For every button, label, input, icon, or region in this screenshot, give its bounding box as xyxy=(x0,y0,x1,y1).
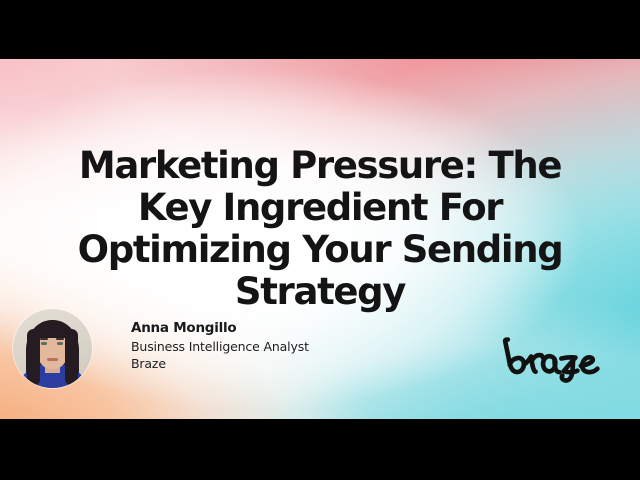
avatar-eye-left xyxy=(41,342,47,345)
video-frame-viewport: Marketing Pressure: The Key Ingredient F… xyxy=(0,0,640,480)
speaker-role: Business Intelligence Analyst xyxy=(131,338,309,355)
speaker-name: Anna Mongillo xyxy=(131,320,309,338)
presentation-slide: Marketing Pressure: The Key Ingredient F… xyxy=(0,59,640,419)
avatar-mouth xyxy=(47,358,58,361)
braze-wordmark-svg xyxy=(500,333,612,385)
slide-title: Marketing Pressure: The Key Ingredient F… xyxy=(0,145,640,313)
avatar-eye-right xyxy=(57,342,63,345)
avatar-hair-fringe xyxy=(34,324,71,338)
braze-wordmark-logo xyxy=(500,333,612,385)
speaker-details: Anna Mongillo Business Intelligence Anal… xyxy=(131,320,309,372)
avatar-eyebrow-right xyxy=(56,338,64,340)
title-block: Marketing Pressure: The Key Ingredient F… xyxy=(0,145,640,313)
avatar xyxy=(13,309,92,388)
speaker-company: Braze xyxy=(131,355,309,372)
avatar-eyebrow-left xyxy=(40,338,48,340)
letterbox-bar-bottom xyxy=(0,419,640,480)
letterbox-bar-top xyxy=(0,0,640,59)
